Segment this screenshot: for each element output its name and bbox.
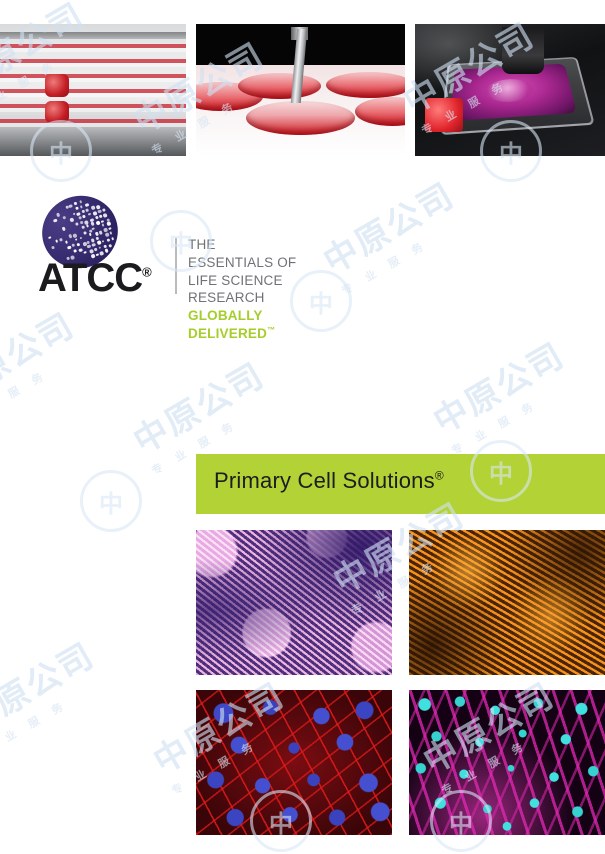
atcc-wordmark: ATCC® bbox=[38, 258, 151, 298]
micrograph-art bbox=[196, 690, 392, 835]
watermark-text: 中原公司专 业 服 务 bbox=[423, 328, 581, 458]
trademark-mark: ™ bbox=[267, 326, 275, 335]
micrograph-phase-contrast-orange bbox=[409, 530, 605, 675]
watermark-text: 中原公司专 业 服 务 bbox=[313, 168, 471, 298]
logo-divider bbox=[175, 238, 177, 294]
primary-cell-solutions-banner: Primary Cell Solutions® bbox=[196, 454, 605, 514]
culture-flask-scene-art bbox=[415, 24, 605, 156]
red-cap-flask-2 bbox=[45, 101, 69, 123]
atcc-wordmark-text: ATCC bbox=[38, 256, 142, 300]
watermark-text: 中原公司专 业 服 务 bbox=[0, 628, 111, 758]
photo-culture-flask bbox=[415, 24, 605, 156]
shelf-edge bbox=[0, 32, 186, 39]
banner-title-text: Primary Cell Solutions bbox=[214, 468, 435, 493]
red-flask-cap bbox=[425, 98, 463, 132]
tagline-line-3: GLOBALLY DELIVERED™ bbox=[188, 307, 298, 343]
watermark-badge: 中 bbox=[80, 470, 142, 532]
micrograph-grid bbox=[196, 530, 605, 835]
red-cap-flask-1 bbox=[45, 74, 69, 96]
micrograph-art bbox=[409, 530, 605, 675]
micrograph-art bbox=[196, 530, 392, 675]
pipetting-scene-art bbox=[196, 24, 405, 156]
tagline-line-2: LIFE SCIENCE RESEARCH bbox=[188, 272, 298, 308]
tagline-line-3-text: GLOBALLY DELIVERED bbox=[188, 308, 267, 341]
micrograph-immunofluorescence-red-blue bbox=[196, 690, 392, 835]
top-photo-strip bbox=[0, 24, 605, 156]
photo-petri-dish-stacks bbox=[0, 24, 186, 156]
petri-dish-foreground bbox=[246, 101, 355, 135]
micrograph-phase-contrast-purple bbox=[196, 530, 392, 675]
registered-mark: ® bbox=[142, 265, 151, 280]
tagline-line-1: THE ESSENTIALS OF bbox=[188, 236, 298, 272]
micrograph-immunofluorescence-magenta-cyan bbox=[409, 690, 605, 835]
micrograph-art bbox=[409, 690, 605, 835]
watermark-badge: 中 bbox=[290, 270, 352, 332]
photo-pipetting-dishes bbox=[196, 24, 405, 156]
watermark-text: 中原公司专 业 服 务 bbox=[0, 298, 91, 428]
petri-dish-stacks-art bbox=[0, 24, 186, 156]
microscope-objective bbox=[502, 27, 544, 75]
atcc-logo: ATCC® THE ESSENTIALS OF LIFE SCIENCE RES… bbox=[38, 196, 298, 300]
registered-mark: ® bbox=[435, 469, 444, 483]
brochure-cover-page: ATCC® THE ESSENTIALS OF LIFE SCIENCE RES… bbox=[0, 0, 605, 854]
banner-title: Primary Cell Solutions® bbox=[214, 468, 444, 494]
petri-dish bbox=[326, 72, 405, 98]
atcc-tagline: THE ESSENTIALS OF LIFE SCIENCE RESEARCH … bbox=[188, 236, 298, 343]
